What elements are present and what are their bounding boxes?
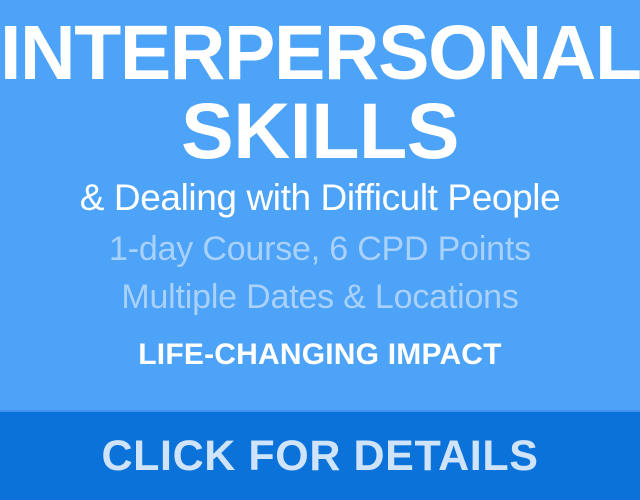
headline-subtitle: & Dealing with Difficult People — [0, 179, 640, 218]
cta-label: CLICK FOR DETAILS — [102, 435, 539, 478]
impact-statement: LIFE-CHANGING IMPACT — [0, 338, 640, 372]
headline-primary-line1: INTERPERSONAL — [0, 18, 640, 90]
advertisement-banner[interactable]: INTERPERSONAL SKILLS & Dealing with Diff… — [0, 0, 640, 500]
course-duration-cpd-line: 1-day Course, 6 CPD Points — [0, 230, 640, 268]
click-for-details-button[interactable]: CLICK FOR DETAILS — [0, 410, 640, 500]
course-dates-locations-line: Multiple Dates & Locations — [0, 278, 640, 316]
headline-primary-line2: SKILLS — [0, 94, 640, 167]
banner-content: INTERPERSONAL SKILLS & Dealing with Diff… — [0, 0, 640, 410]
